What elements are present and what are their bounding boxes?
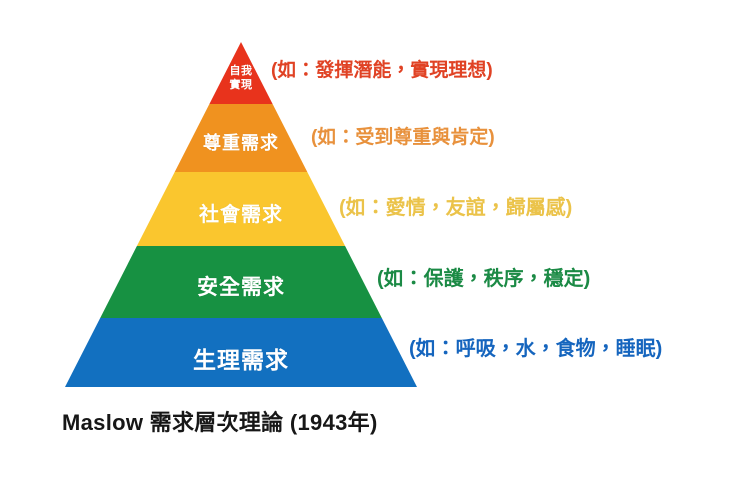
annotation-social: (如：愛情，友誼，歸屬感): [339, 198, 572, 218]
annotation-esteem: (如：受到尊重與肯定): [311, 128, 495, 147]
annotation-self-actualization: (如：發揮潛能，實現理想): [271, 61, 493, 80]
annotation-physiological: (如：呼吸，水，食物，睡眠): [409, 339, 662, 359]
pyramid-tier-esteem: [175, 104, 308, 172]
annotation-safety: (如：保護，秩序，穩定): [377, 269, 590, 289]
maslow-hierarchy-diagram: 自我 實現 尊重需求 社會需求 安全需求 生理需求 (如：發揮潛能，實現理想) …: [0, 0, 740, 477]
pyramid-tier-social: [137, 172, 345, 246]
pyramid-tier-physiological: [65, 318, 417, 387]
pyramid-tier-self-actualization: [209, 42, 272, 104]
pyramid-tier-safety: [100, 246, 382, 318]
figure-caption: Maslow 需求層次理論 (1943年): [62, 405, 378, 437]
